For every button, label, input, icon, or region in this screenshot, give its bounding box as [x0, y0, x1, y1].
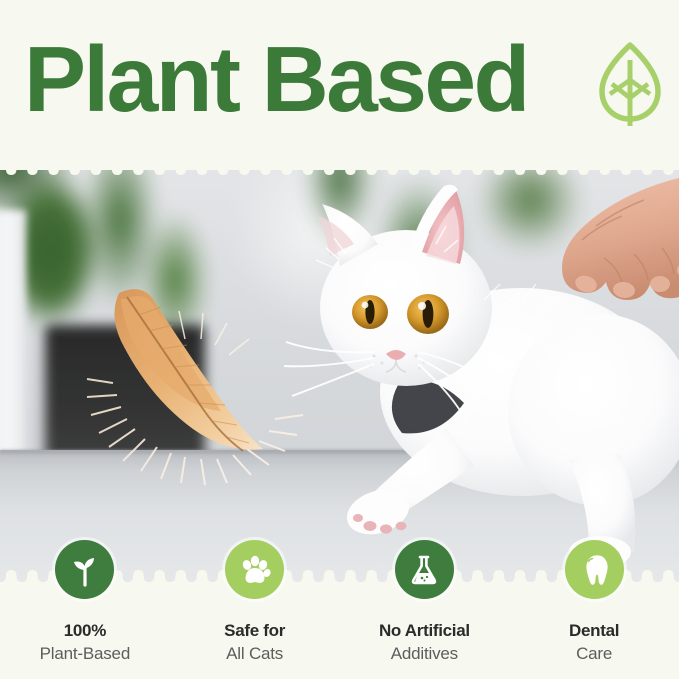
product-infographic-card: Plant Based [0, 0, 679, 679]
feature-label-line2: Care [576, 644, 612, 664]
paw-icon [239, 554, 271, 586]
feature-no-artificial-additives[interactable]: No Artificial Additives [340, 540, 510, 679]
feature-label-line1: No Artificial [379, 621, 470, 641]
tooth-icon [579, 554, 609, 586]
sprout-icon [68, 553, 102, 587]
wave-divider-top [0, 150, 679, 182]
feature-badge-circle [395, 540, 454, 599]
feature-label-line2: Additives [391, 644, 458, 664]
feature-plant-based[interactable]: 100% Plant-Based [0, 540, 170, 679]
feature-badge-circle [225, 540, 284, 599]
feature-label-line1: Dental [569, 621, 619, 641]
feature-label-line1: 100% [64, 621, 106, 641]
feature-badges: 100% Plant-Based Safe for All Cats [0, 540, 679, 679]
feature-safe-for-all-cats[interactable]: Safe for All Cats [170, 540, 340, 679]
feature-dental-care[interactable]: Dental Care [509, 540, 679, 679]
flask-icon [408, 554, 440, 586]
header-banner: Plant Based [0, 0, 679, 170]
page-title: Plant Based [24, 27, 528, 131]
feature-label-line2: All Cats [226, 644, 283, 664]
feature-label-line1: Safe for [224, 621, 285, 641]
product-lifestyle-photo [0, 150, 679, 600]
leaf-icon [596, 40, 664, 126]
feature-badge-circle [565, 540, 624, 599]
feature-label-line2: Plant-Based [40, 644, 130, 664]
feather-toy [55, 265, 305, 495]
human-hand [500, 170, 679, 360]
feature-badge-circle [55, 540, 114, 599]
